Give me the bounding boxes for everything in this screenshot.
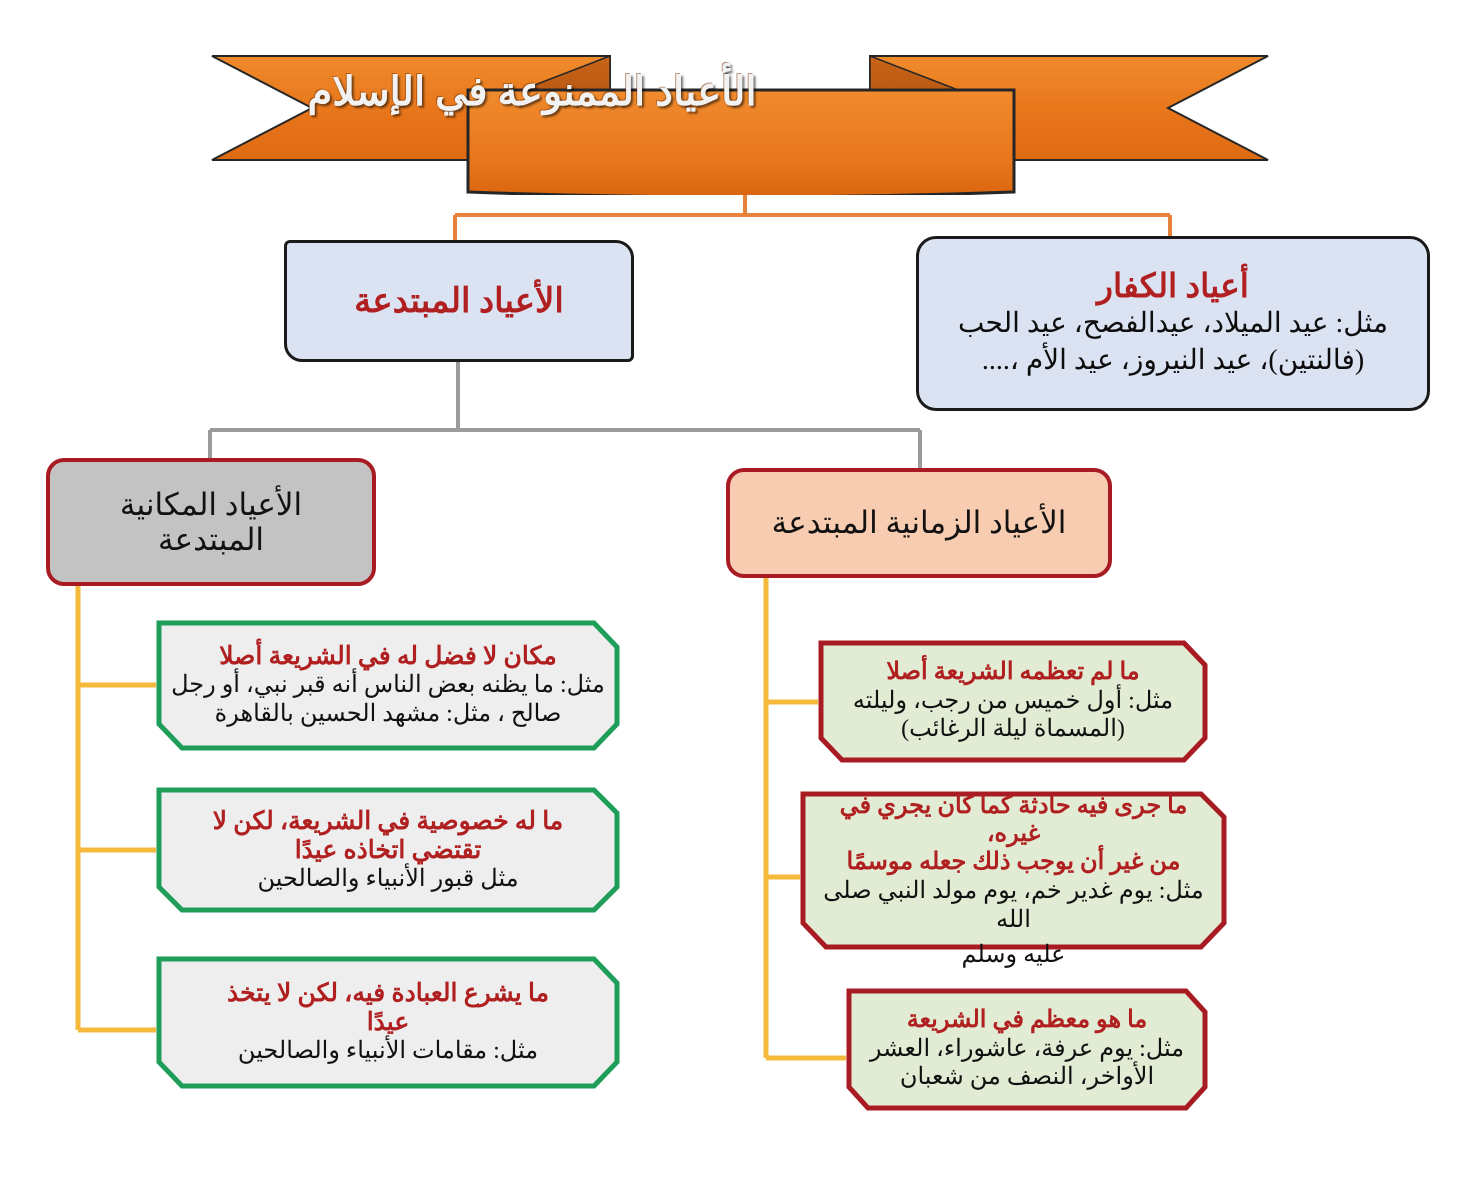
- leaf-spatial-1[interactable]: مكان لا فضل له في الشريعة أصلا مثل: ما ي…: [156, 620, 620, 751]
- leaf-temporal-3[interactable]: ما هو معظم في الشريعة مثل: يوم عرفة، عاش…: [846, 988, 1208, 1111]
- leaf-temporal-3-body-line1: مثل: يوم عرفة، عاشوراء، العشر: [860, 1035, 1194, 1064]
- page-title: الأعياد الممنوعة في الإسلام: [258, 46, 806, 136]
- leaf-temporal-1-heading: ما لم تعظمه الشريعة أصلا: [832, 659, 1194, 687]
- leaf-temporal-2[interactable]: ما جرى فيه حادثة كما كان يجري في غيره، م…: [800, 791, 1227, 951]
- leaf-spatial-2-body-line1: مثل قبور الأنبياء والصالحين: [170, 865, 606, 894]
- leaf-spatial-3-heading-line2: عيدًا: [170, 1008, 606, 1037]
- leaf-temporal-3-body-line2: الأواخر، النصف من شعبان: [860, 1063, 1194, 1092]
- node-kuffar-body-line1: مثل: عيد الميلاد، عيدالفصح، عيد الحب: [958, 307, 1388, 341]
- leaf-spatial-1-heading: مكان لا فضل له في الشريعة أصلا: [170, 642, 606, 671]
- leaf-spatial-1-body-line1: مثل: ما يظنه بعض الناس أنه قبر نبي، أو ر…: [170, 671, 606, 700]
- diagram-canvas: الأعياد الممنوعة في الإسلام الأعياد المب…: [0, 0, 1474, 1186]
- leaf-spatial-3-heading-line1: ما يشرع العبادة فيه، لكن لا يتخذ: [170, 979, 606, 1008]
- leaf-spatial-3[interactable]: ما يشرع العبادة فيه، لكن لا يتخذ عيدًا م…: [156, 956, 620, 1089]
- node-kuffar-heading: أعياد الكفار: [1097, 269, 1249, 305]
- leaf-temporal-1-body-line1: مثل: أول خميس من رجب، وليلته: [832, 687, 1194, 716]
- leaf-temporal-2-heading-line3: من غير أن يوجب ذلك جعله موسمًا: [814, 849, 1213, 877]
- leaf-spatial-2[interactable]: ما له خصوصية في الشريعة، لكن لا تقتضي ات…: [156, 787, 620, 913]
- node-temporal-heading: الأعياد الزمانية المبتدعة: [772, 505, 1067, 540]
- connector-yellow-left: [78, 586, 156, 1030]
- node-spatial-heading-line2: المبتدعة: [158, 522, 264, 557]
- leaf-spatial-2-heading-line2: تقتضي اتخاذه عيدًا: [170, 836, 606, 865]
- leaf-temporal-2-heading-line1: ما جرى فيه حادثة كما كان يجري في: [814, 793, 1213, 821]
- leaf-temporal-3-heading: ما هو معظم في الشريعة: [860, 1007, 1194, 1035]
- node-bidaa-festivals[interactable]: الأعياد المبتدعة: [284, 240, 634, 362]
- leaf-temporal-2-heading-line2: غيره،: [814, 821, 1213, 849]
- leaf-temporal-2-body-line2: عليه وسلم: [800, 941, 1227, 970]
- node-spatial-heading-line1: الأعياد المكانية: [120, 487, 302, 522]
- node-bidaa-heading: الأعياد المبتدعة: [354, 281, 564, 321]
- leaf-temporal-1-body-line2: (المسماة ليلة الرغائب): [832, 715, 1194, 744]
- node-spatial-festivals[interactable]: الأعياد المكانية المبتدعة: [46, 458, 376, 586]
- node-temporal-festivals[interactable]: الأعياد الزمانية المبتدعة: [726, 468, 1112, 578]
- node-kuffar-body-line2: (فالنتين)، عيد النيروز، عيد الأم ،....: [982, 344, 1364, 378]
- leaf-temporal-1[interactable]: ما لم تعظمه الشريعة أصلا مثل: أول خميس م…: [818, 640, 1208, 763]
- node-kuffar-festivals[interactable]: أعياد الكفار مثل: عيد الميلاد، عيدالفصح،…: [916, 236, 1430, 411]
- leaf-temporal-2-body-line1: مثل: يوم غدير خم، يوم مولد النبي صلى الل…: [814, 877, 1213, 935]
- leaf-spatial-2-heading-line1: ما له خصوصية في الشريعة، لكن لا: [170, 807, 606, 836]
- leaf-spatial-3-body-line1: مثل: مقامات الأنبياء والصالحين: [170, 1037, 606, 1066]
- leaf-spatial-1-body-line2: صالح ، مثل: مشهد الحسين بالقاهرة: [170, 700, 606, 729]
- connector-gray-level2: [210, 362, 920, 468]
- connector-orange-level1: [455, 195, 1170, 240]
